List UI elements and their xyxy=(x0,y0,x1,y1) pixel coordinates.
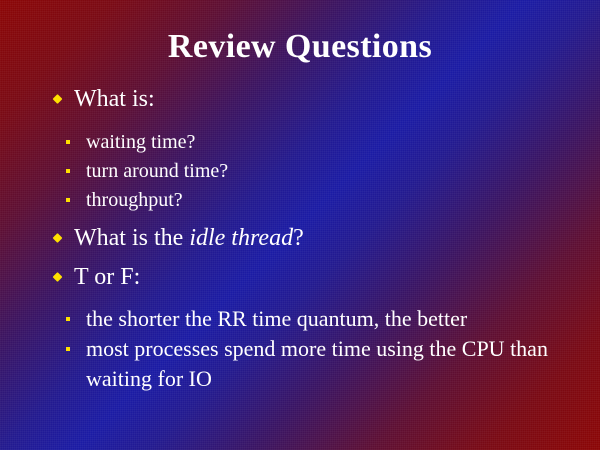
spacer xyxy=(0,215,600,223)
bullet-cpu-vs-io: most processes spend more time using the… xyxy=(0,334,600,394)
diamond-bullet-icon xyxy=(53,94,63,104)
spacer xyxy=(0,114,600,128)
slide-title: Review Questions xyxy=(0,27,600,67)
bullet-throughput: throughput? xyxy=(0,186,600,215)
bullet-turn-around-time-label: turn around time? xyxy=(86,160,228,182)
bullet-turn-around-time: turn around time? xyxy=(0,157,600,186)
bullet-waiting-time: waiting time? xyxy=(0,128,600,157)
dot-bullet-icon xyxy=(66,169,70,173)
bullet-rr-quantum: the shorter the RR time quantum, the bet… xyxy=(0,304,600,334)
slide-body: What is: waiting time? turn around time?… xyxy=(0,84,600,394)
bullet-throughput-label: throughput? xyxy=(86,189,183,211)
dot-bullet-icon xyxy=(66,140,70,144)
bullet-rr-quantum-label: the shorter the RR time quantum, the bet… xyxy=(86,306,467,331)
diamond-bullet-icon xyxy=(53,233,63,243)
bullet-idle-thread-label-after: ? xyxy=(293,225,304,251)
dot-bullet-icon xyxy=(66,347,70,351)
bullet-idle-thread: What is the idle thread? xyxy=(0,223,600,253)
bullet-cpu-vs-io-label: most processes spend more time using the… xyxy=(86,336,548,391)
spacer xyxy=(0,253,600,262)
bullet-waiting-time-label: waiting time? xyxy=(86,131,195,153)
diamond-bullet-icon xyxy=(53,272,63,282)
bullet-idle-thread-label-before: What is the xyxy=(74,225,189,251)
bullet-what-is: What is: xyxy=(0,84,600,114)
dot-bullet-icon xyxy=(66,198,70,202)
dot-bullet-icon xyxy=(66,317,70,321)
bullet-what-is-label: What is: xyxy=(74,86,155,112)
bullet-t-or-f: T or F: xyxy=(0,262,600,292)
bullet-t-or-f-label: T or F: xyxy=(74,264,140,290)
bullet-idle-thread-emphasis: idle thread xyxy=(189,225,293,251)
spacer xyxy=(0,292,600,304)
presentation-slide: Review Questions What is: waiting time? … xyxy=(0,0,600,450)
